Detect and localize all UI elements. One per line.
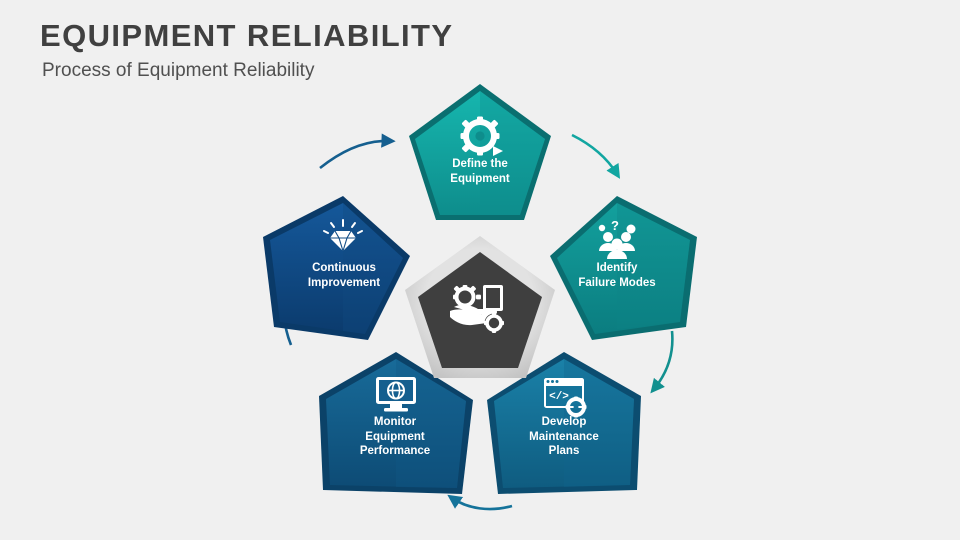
svg-text:</>: </>	[549, 391, 569, 403]
arrow-develop-to-monitor	[452, 498, 512, 509]
gear-cog-icon	[461, 117, 504, 157]
node-identify-failure-modes[interactable]: ?	[550, 196, 697, 340]
node-continuous-improvement[interactable]	[263, 196, 410, 340]
arrow-identify-to-develop	[654, 331, 672, 389]
arrow-define-to-identify	[572, 135, 617, 174]
node-define-the-equipment[interactable]	[409, 84, 551, 220]
equipment-reliability-cycle-diagram: ? </>	[0, 0, 960, 540]
svg-text:?: ?	[611, 218, 619, 233]
slide: EQUIPMENT RELIABILITY Process of Equipme…	[0, 0, 960, 540]
arrow-continuous-to-define	[320, 141, 390, 168]
center-hub	[405, 236, 555, 378]
